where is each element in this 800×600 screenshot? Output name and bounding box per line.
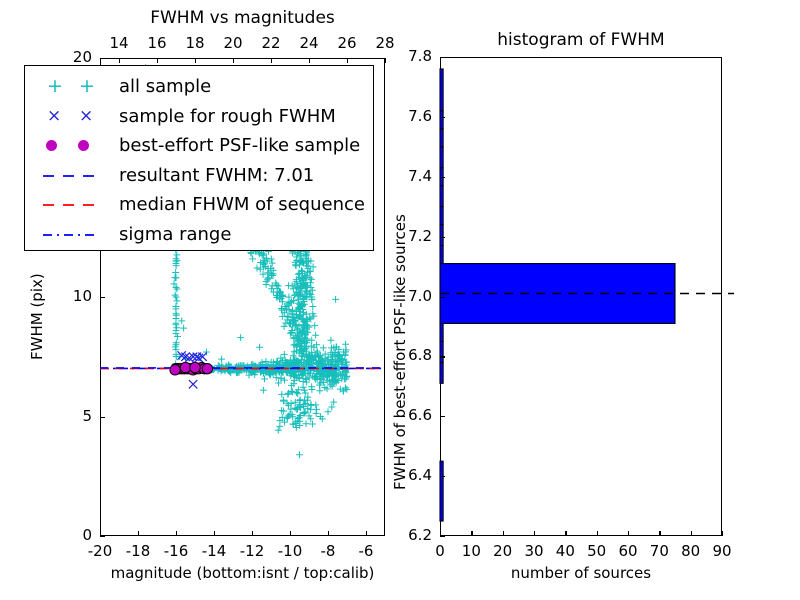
cross-marker-icon: × (47, 102, 61, 131)
left-xtick-6 (328, 531, 329, 536)
histogram-bar (440, 461, 443, 521)
right-xtick-3 (534, 531, 535, 536)
left-yticklabel-0: 0 (52, 526, 92, 544)
right-yticklabel-8: 7.8 (392, 47, 432, 65)
right-xticklabel-3: 30 (524, 542, 543, 560)
series-psf-like (170, 362, 213, 375)
histogram-bar (440, 323, 443, 341)
right-xticklabel-7: 70 (650, 542, 669, 560)
right-xticklabel-8: 80 (681, 542, 700, 560)
dashed-line-icon (33, 190, 119, 219)
left-ytick-1 (100, 417, 105, 418)
left-xtick-4 (252, 531, 253, 536)
histogram-bar (440, 225, 443, 246)
left-xticklabel-top-0: 14 (109, 34, 128, 52)
right-xtick-2 (503, 531, 504, 536)
left-xticklabel-2: -16 (164, 542, 189, 560)
histogram-bar (440, 246, 443, 264)
right-yticklabel-7: 7.6 (392, 107, 432, 125)
right-ytick-6 (440, 177, 445, 178)
legend-label: median FHWM of sequence (119, 194, 365, 215)
legend-entry-2: best-effort PSF-like sample (33, 131, 360, 160)
left-xtick-5 (290, 531, 291, 536)
left-xticklabel-top-6: 26 (337, 34, 356, 52)
histogram-data-layer (440, 57, 722, 536)
right-ytick-4 (440, 297, 445, 298)
right-panel-xlabel: number of sources (440, 564, 722, 582)
right-xtick-6 (628, 531, 629, 536)
figure-canvas: FWHM vs magnitudes -20-18-16-14-12-10-8-… (0, 0, 800, 600)
dashdot-line-icon (33, 220, 119, 249)
left-xtick-top-0 (119, 58, 120, 63)
legend: ++all sample××sample for rough FWHMbest-… (24, 65, 374, 251)
left-xticklabel-7: -6 (359, 542, 374, 560)
histogram-bar (440, 111, 443, 129)
right-yticklabel-0: 6.2 (392, 526, 432, 544)
legend-entry-0: ++all sample (33, 72, 211, 101)
right-ytick-8 (440, 57, 445, 58)
right-ytick-3 (440, 356, 445, 357)
left-yticklabel-4: 20 (52, 48, 92, 66)
legend-entry-1: ××sample for rough FWHM (33, 102, 336, 131)
right-xtick-1 (471, 531, 472, 536)
right-xticklabel-1: 10 (462, 542, 481, 560)
left-xtick-top-1 (157, 58, 158, 63)
left-xticklabel-top-4: 22 (261, 34, 280, 52)
reference-lines (100, 368, 385, 369)
histogram-bar (440, 129, 443, 147)
histogram-bar (440, 207, 443, 225)
left-xtick-3 (214, 531, 215, 536)
left-xtick-1 (138, 531, 139, 536)
left-panel-xlabel: magnitude (bottom:isnt / top:calib) (100, 564, 385, 582)
right-xtick-8 (691, 531, 692, 536)
right-ytick-5 (440, 237, 445, 238)
left-yticklabel-1: 5 (52, 407, 92, 425)
right-xtick-4 (565, 531, 566, 536)
histogram-bar (440, 186, 443, 207)
legend-entry-5: sigma range (33, 220, 231, 249)
left-xticklabel-4: -12 (240, 542, 265, 560)
left-xticklabel-top-1: 16 (147, 34, 166, 52)
right-xticklabel-6: 60 (618, 542, 637, 560)
left-xtick-2 (176, 531, 177, 536)
left-xtick-top-4 (271, 58, 272, 63)
right-panel-title: histogram of FWHM (440, 30, 722, 50)
right-panel-ylabel: FWHM of best-effort PSF-like sources (391, 214, 409, 490)
left-xtick-top-2 (195, 58, 196, 63)
left-xtick-top-3 (233, 58, 234, 63)
right-ytick-1 (440, 476, 445, 477)
histogram-bar (440, 362, 443, 383)
left-xtick-7 (366, 531, 367, 536)
right-xticklabel-5: 50 (587, 542, 606, 560)
legend-label: sample for rough FWHM (119, 106, 336, 127)
left-xtick-top-7 (385, 58, 386, 63)
left-xticklabel-5: -10 (278, 542, 303, 560)
legend-label: all sample (119, 76, 211, 97)
circle-marker-icon (78, 140, 89, 151)
right-yticklabel-6: 7.4 (392, 167, 432, 185)
left-xticklabel-top-3: 20 (223, 34, 242, 52)
left-xtick-top-5 (309, 58, 310, 63)
cross-marker-icon: × (79, 102, 93, 131)
right-xticklabel-4: 40 (556, 542, 575, 560)
right-xticklabel-2: 20 (493, 542, 512, 560)
histogram-bar (440, 69, 443, 111)
right-xtick-9 (722, 531, 723, 536)
plus-marker-icon: + (79, 72, 95, 101)
legend-entry-3: resultant FWHM: 7.01 (33, 161, 314, 190)
right-ytick-0 (440, 536, 445, 537)
right-xtick-5 (597, 531, 598, 536)
right-ytick-2 (440, 416, 445, 417)
right-xticklabel-9: 90 (712, 542, 731, 560)
right-ytick-7 (440, 117, 445, 118)
legend-label: resultant FWHM: 7.01 (119, 165, 314, 186)
histogram-bars (440, 69, 675, 521)
left-xticklabel-3: -14 (202, 542, 227, 560)
left-xticklabel-1: -18 (126, 542, 151, 560)
left-panel-ylabel: FWHM (pix) (28, 273, 46, 360)
left-xticklabel-0: -20 (88, 542, 113, 560)
left-xticklabel-6: -8 (321, 542, 336, 560)
left-ytick-2 (100, 297, 105, 298)
plus-marker-icon: + (47, 72, 63, 101)
left-xtick-top-6 (347, 58, 348, 63)
legend-entry-4: median FHWM of sequence (33, 190, 365, 219)
dashed-line-icon (33, 161, 119, 190)
histogram-bar (440, 341, 443, 362)
circle-marker-icon (46, 140, 57, 151)
right-xticklabel-0: 0 (435, 542, 445, 560)
legend-label: sigma range (119, 224, 231, 245)
right-xtick-7 (659, 531, 660, 536)
legend-label: best-effort PSF-like sample (119, 135, 360, 156)
left-xticklabel-top-2: 18 (185, 34, 204, 52)
histogram-bar (440, 147, 443, 168)
left-panel-title: FWHM vs magnitudes (100, 8, 385, 28)
left-xticklabel-top-5: 24 (299, 34, 318, 52)
left-ytick-4 (100, 58, 105, 59)
left-ytick-0 (100, 536, 105, 537)
left-yticklabel-2: 10 (52, 287, 92, 305)
